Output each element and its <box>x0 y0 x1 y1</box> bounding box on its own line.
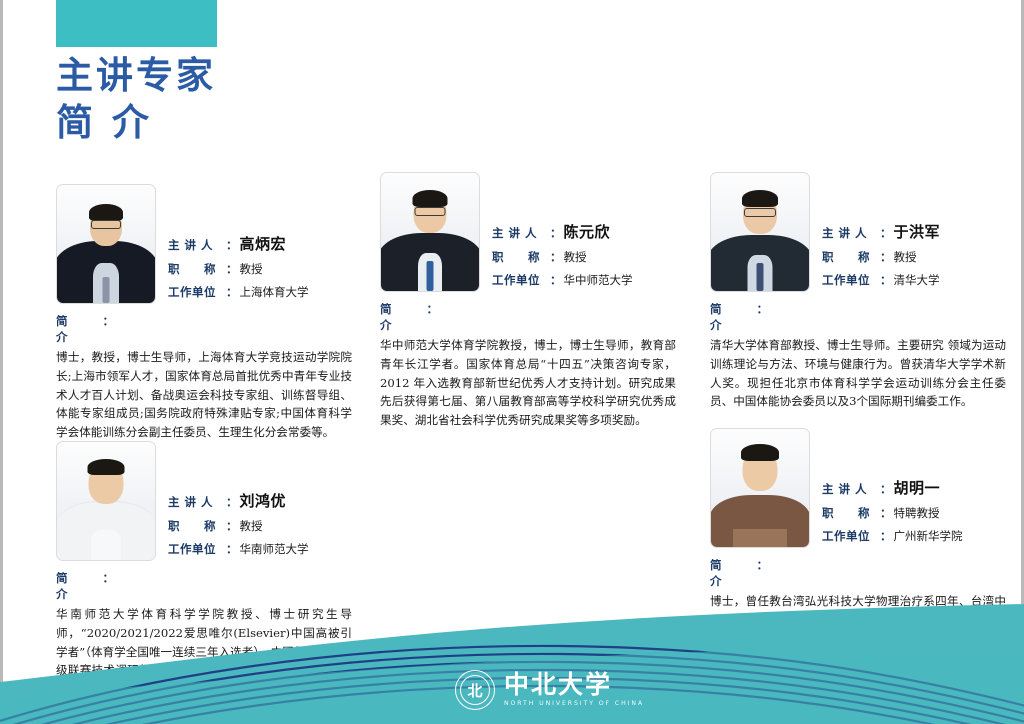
expert-jobtitle: 教授 <box>894 249 917 265</box>
colon: ： <box>757 301 769 333</box>
expert-name: 于洪军 <box>894 221 941 242</box>
expert-name: 刘鸿优 <box>240 490 287 511</box>
jobtitle-row: 职 称 ： 特聘教授 <box>822 505 963 521</box>
expert-card-3: 主 讲 人 ： 于洪军 职 称 ： 教授 工作单位 ： 清华大学 简 介 ： <box>710 174 1006 411</box>
jobtitle-label: 职 称 <box>168 518 226 534</box>
bio-label-text: 简 介 <box>56 313 102 345</box>
expert-meta-3: 主 讲 人 ： 于洪军 职 称 ： 教授 工作单位 ： 清华大学 <box>822 221 940 292</box>
bio-label-text: 简 介 <box>710 557 756 589</box>
expert-card-4: 主 讲 人 ： 刘鸿优 职 称 ： 教授 工作单位 ： 华南师范大学 简 介 ： <box>56 443 352 699</box>
expert-name: 陈元欣 <box>564 221 611 242</box>
affiliation-row: 工作单位 ： 上海体育大学 <box>168 284 309 300</box>
affiliation-row: 工作单位 ： 华中师范大学 <box>492 272 633 288</box>
expert-jobtitle: 教授 <box>240 261 263 277</box>
expert-jobtitle: 特聘教授 <box>894 505 940 521</box>
affiliation-label: 工作单位 <box>822 528 880 544</box>
speaker-label: 主 讲 人 <box>492 225 550 241</box>
expert-photo-3 <box>710 172 810 292</box>
colon: ： <box>226 237 238 253</box>
expert-affiliation: 华中师范大学 <box>564 272 633 288</box>
jobtitle-row: 职 称 ： 教授 <box>822 249 940 265</box>
colon: ： <box>103 570 115 602</box>
jobtitle-row: 职 称 ： 教授 <box>168 518 309 534</box>
jobtitle-row: 职 称 ： 教授 <box>492 249 633 265</box>
bio-label-text: 简 介 <box>710 301 756 333</box>
colon: ： <box>550 272 562 288</box>
jobtitle-label: 职 称 <box>168 261 226 277</box>
colon: ： <box>226 284 238 300</box>
expert-photo-1 <box>56 184 156 304</box>
expert-bio-3: 清华大学体育部教授、博士生导师。主要研究 领域为运动训练理论与方法、环境与健康行… <box>710 336 1006 411</box>
expert-affiliation: 上海体育大学 <box>240 284 309 300</box>
colon: ： <box>427 301 439 333</box>
colon: ： <box>103 313 115 345</box>
bio-label-text: 简 介 <box>56 570 102 602</box>
speaker-label: 主 讲 人 <box>168 494 226 510</box>
bio-label-4: 简 介 ： <box>56 570 114 602</box>
expert-photo-2 <box>380 172 480 292</box>
colon: ： <box>880 528 892 544</box>
expert-affiliation: 清华大学 <box>894 272 940 288</box>
header-accent-bar <box>56 0 217 47</box>
affiliation-label: 工作单位 <box>168 541 226 557</box>
expert-meta-5: 主 讲 人 ： 胡明一 职 称 ： 特聘教授 工作单位 ： 广州新华学院 <box>822 477 963 548</box>
bio-label-2: 简 介 ： <box>380 301 438 333</box>
speaker-row: 主 讲 人 ： 刘鸿优 <box>168 490 309 511</box>
expert-bio-1: 博士，教授，博士生导师，上海体育大学竞技运动学院院长;上海市领军人才，国家体育总… <box>56 348 352 442</box>
colon: ： <box>880 481 892 497</box>
university-name-en: NORTH UNIVERSITY OF CHINA <box>504 701 644 708</box>
expert-card-2: 主 讲 人 ： 陈元欣 职 称 ： 教授 工作单位 ： 华中师范大学 简 介 ： <box>380 174 676 430</box>
expert-name: 胡明一 <box>894 477 941 498</box>
expert-affiliation: 广州新华学院 <box>894 528 963 544</box>
jobtitle-row: 职 称 ： 教授 <box>168 261 309 277</box>
jobtitle-label: 职 称 <box>822 249 880 265</box>
affiliation-row: 工作单位 ： 华南师范大学 <box>168 541 309 557</box>
affiliation-row: 工作单位 ： 广州新华学院 <box>822 528 963 544</box>
speaker-row: 主 讲 人 ： 陈元欣 <box>492 221 633 242</box>
speaker-label: 主 讲 人 <box>822 225 880 241</box>
colon: ： <box>226 261 238 277</box>
bio-label-text: 简 介 <box>380 301 426 333</box>
speaker-row: 主 讲 人 ： 于洪军 <box>822 221 940 242</box>
colon: ： <box>880 225 892 241</box>
expert-affiliation: 华南师范大学 <box>240 541 309 557</box>
bio-label-5: 简 介 ： <box>710 557 768 589</box>
affiliation-label: 工作单位 <box>822 272 880 288</box>
jobtitle-label: 职 称 <box>492 249 550 265</box>
affiliation-label: 工作单位 <box>492 272 550 288</box>
colon: ： <box>550 225 562 241</box>
expert-jobtitle: 教授 <box>240 518 263 534</box>
seal-glyph: 北 <box>456 671 494 709</box>
expert-card-1: 主 讲 人 ： 高炳宏 职 称 ： 教授 工作单位 ： 上海体育大学 简 介 ： <box>56 186 352 442</box>
expert-meta-2: 主 讲 人 ： 陈元欣 职 称 ： 教授 工作单位 ： 华中师范大学 <box>492 221 633 292</box>
jobtitle-label: 职 称 <box>822 505 880 521</box>
colon: ： <box>226 494 238 510</box>
expert-card-5: 主 讲 人 ： 胡明一 职 称 ： 特聘教授 工作单位 ： 广州新华学院 简 介… <box>710 430 1006 667</box>
expert-photo-5 <box>710 428 810 548</box>
colon: ： <box>880 272 892 288</box>
page-title: 主讲专家 简 介 <box>56 52 456 145</box>
expert-jobtitle: 教授 <box>564 249 587 265</box>
speaker-label: 主 讲 人 <box>168 237 226 253</box>
expert-photo-4 <box>56 441 156 561</box>
speaker-label: 主 讲 人 <box>822 481 880 497</box>
university-logo: 北 中北大学 NORTH UNIVERSITY OF CHINA <box>455 670 644 710</box>
speaker-row: 主 讲 人 ： 胡明一 <box>822 477 963 498</box>
expert-bio-5: 博士，曾任教台湾弘光科技大学物理治疗系四年、台湾中山医学大学医学院临床本科解剖教… <box>710 592 1006 667</box>
colon: ： <box>880 505 892 521</box>
poster-page: 主讲专家 简 介 主 讲 人 ： 高炳宏 职 称 ： <box>0 0 1024 724</box>
bio-label-3: 简 介 ： <box>710 301 768 333</box>
speaker-row: 主 讲 人 ： 高炳宏 <box>168 233 309 254</box>
university-seal-icon: 北 <box>455 670 495 710</box>
expert-name: 高炳宏 <box>240 233 287 254</box>
affiliation-row: 工作单位 ： 清华大学 <box>822 272 940 288</box>
colon: ： <box>226 541 238 557</box>
university-name-cn: 中北大学 <box>504 672 644 698</box>
colon: ： <box>226 518 238 534</box>
expert-bio-4: 华南师范大学体育科学学院教授、博士研究生导师，“2020/2021/2022爱思… <box>56 605 352 699</box>
expert-meta-1: 主 讲 人 ： 高炳宏 职 称 ： 教授 工作单位 ： 上海体育大学 <box>168 233 309 304</box>
bio-label-1: 简 介 ： <box>56 313 114 345</box>
expert-meta-4: 主 讲 人 ： 刘鸿优 职 称 ： 教授 工作单位 ： 华南师范大学 <box>168 490 309 561</box>
affiliation-label: 工作单位 <box>168 284 226 300</box>
colon: ： <box>757 557 769 589</box>
colon: ： <box>880 249 892 265</box>
expert-bio-2: 华中师范大学体育学院教授，博士，博士生导师，教育部青年长江学者。国家体育总局“十… <box>380 336 676 430</box>
page-left-edge <box>0 0 3 724</box>
colon: ： <box>550 249 562 265</box>
